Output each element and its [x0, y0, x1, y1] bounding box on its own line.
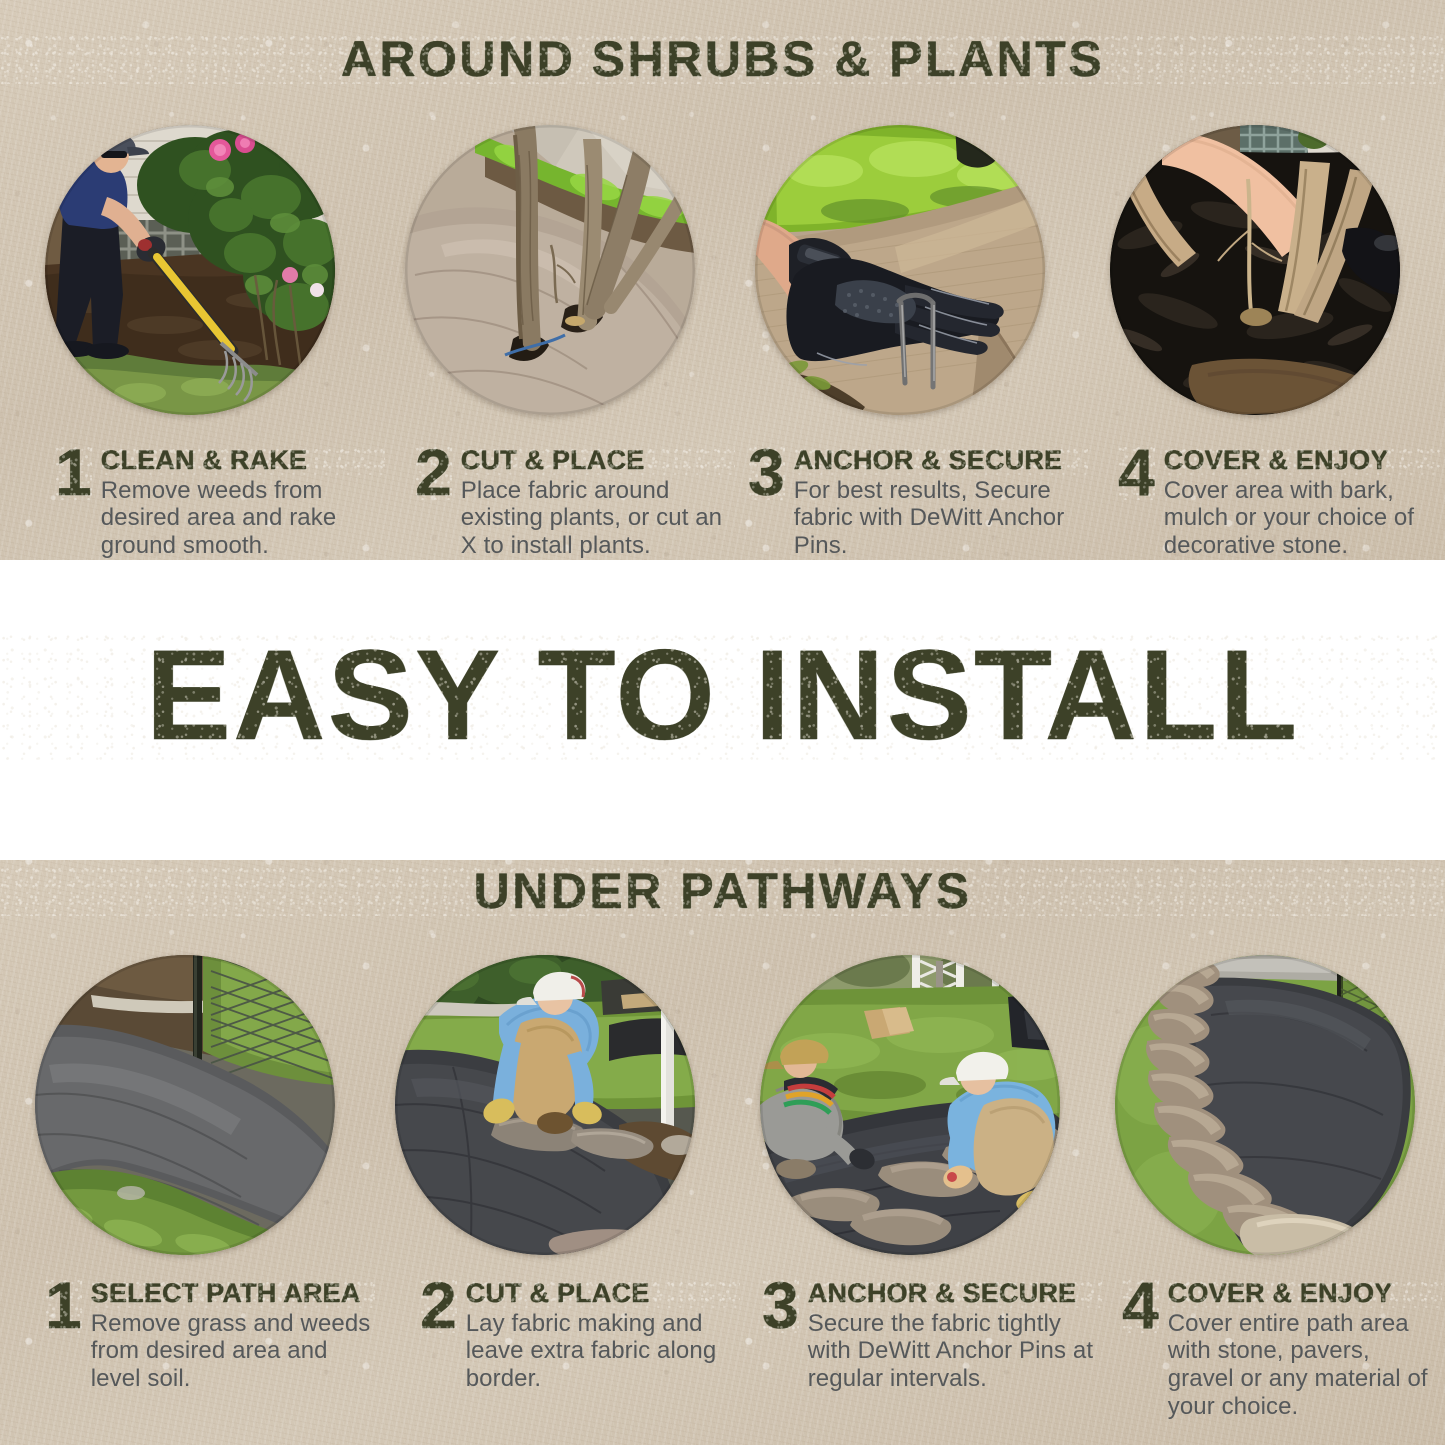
section-title-shrubs: AROUND SHRUBS & PLANTS	[0, 34, 1445, 84]
photo-anchor-and-secure-path	[760, 955, 1060, 1255]
step-description: Cover entire path area with stone, paver…	[1168, 1310, 1442, 1421]
step-3-pathways: 3 ANCHOR & SECURE Secure the fabric tigh…	[762, 1278, 1102, 1393]
section-title-pathways: UNDER PATHWAYS	[0, 866, 1445, 916]
step-1-shrubs: 1 CLEAN & RAKE Remove weeds from desired…	[55, 445, 385, 560]
step-2-shrubs: 2 CUT & PLACE Place fabric around existi…	[415, 445, 735, 560]
step-description: For best results, Secure fabric with DeW…	[794, 477, 1088, 560]
step-number: 4	[1118, 445, 1155, 500]
step-description: Lay fabric making and leave extra fabric…	[466, 1310, 740, 1393]
step-heading: CLEAN & RAKE	[101, 447, 385, 475]
photo-select-path-area	[35, 955, 335, 1255]
step-heading: COVER & ENJOY	[1168, 1280, 1442, 1308]
step-description: Secure the fabric tightly with DeWitt An…	[808, 1310, 1102, 1393]
step-number: 1	[45, 1278, 82, 1333]
step-heading: CUT & PLACE	[466, 1280, 740, 1308]
photo-clean-and-rake	[45, 125, 335, 415]
step-heading: ANCHOR & SECURE	[808, 1280, 1102, 1308]
photo-cover-and-enjoy-shrubs	[1110, 125, 1400, 415]
step-4-pathways: 4 COVER & ENJOY Cover entire path area w…	[1122, 1278, 1442, 1421]
step-description: Remove grass and weeds from desired area…	[91, 1310, 375, 1393]
step-3-shrubs: 3 ANCHOR & SECURE For best results, Secu…	[748, 445, 1088, 560]
step-heading: ANCHOR & SECURE	[794, 447, 1088, 475]
step-number: 3	[748, 445, 785, 500]
step-heading: SELECT PATH AREA	[91, 1280, 375, 1308]
step-4-shrubs: 4 COVER & ENJOY Cover area with bark, mu…	[1118, 445, 1440, 560]
step-2-pathways: 2 CUT & PLACE Lay fabric making and leav…	[420, 1278, 740, 1393]
step-description: Place fabric around existing plants, or …	[461, 477, 735, 560]
banner-headline: EASY TO INSTALL	[0, 632, 1445, 760]
step-description: Cover area with bark, mulch or your choi…	[1164, 477, 1440, 560]
step-number: 2	[420, 1278, 457, 1333]
step-1-pathways: 1 SELECT PATH AREA Remove grass and weed…	[45, 1278, 375, 1393]
step-number: 3	[762, 1278, 799, 1333]
photo-cover-and-enjoy-path	[1115, 955, 1415, 1255]
step-description: Remove weeds from desired area and rake …	[101, 477, 385, 560]
photo-cut-and-place-shrubs	[405, 125, 695, 415]
step-number: 2	[415, 445, 452, 500]
photo-anchor-and-secure-shrubs	[755, 125, 1045, 415]
step-heading: CUT & PLACE	[461, 447, 735, 475]
step-number: 4	[1122, 1278, 1159, 1333]
step-heading: COVER & ENJOY	[1164, 447, 1440, 475]
photo-cut-and-place-path	[395, 955, 695, 1255]
step-number: 1	[55, 445, 92, 500]
